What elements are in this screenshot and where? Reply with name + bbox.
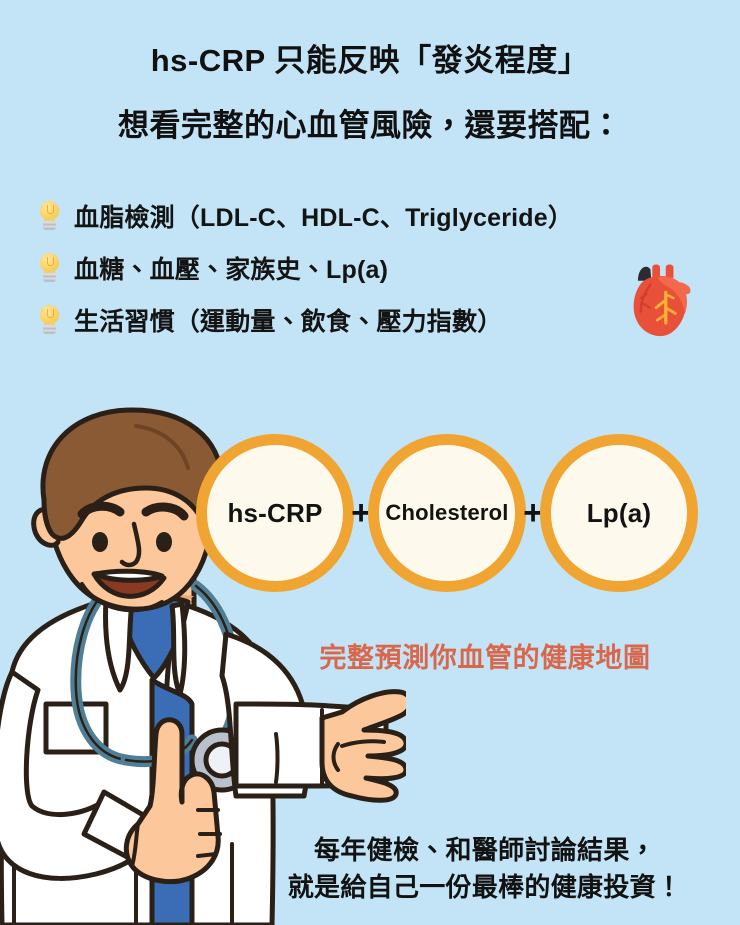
lightbulb-icon	[34, 249, 66, 287]
combo-label: hs-CRP	[227, 500, 322, 526]
combo-label: Lp(a)	[587, 500, 652, 526]
list-item: 生活習慣（運動量、飲食、壓力指數）	[34, 294, 694, 346]
combo-circle-cholesterol: Cholesterol	[368, 434, 526, 592]
tagline-text: 完整預測你血管的健康地圖	[250, 636, 720, 675]
combo-label: Cholesterol	[385, 502, 508, 524]
list-item: 血糖、血壓、家族史、Lp(a)	[34, 242, 694, 294]
list-item-label: 血糖、血壓、家族史、Lp(a)	[74, 250, 388, 286]
footer-line-2: 就是給自己一份最棒的健康投資！	[240, 869, 730, 906]
list-item: 血脂檢測（LDL-C、HDL-C、Triglyceride）	[34, 190, 694, 242]
headline-block: hs-CRP 只能反映「發炎程度」 想看完整的心血管風險，還要搭配：	[0, 42, 740, 146]
list-item-label: 血脂檢測（LDL-C、HDL-C、Triglyceride）	[74, 198, 573, 234]
combo-circle-lpa: Lp(a)	[540, 434, 698, 592]
infographic-poster: hs-CRP 只能反映「發炎程度」 想看完整的心血管風險，還要搭配： 血脂檢測（…	[0, 0, 740, 925]
biomarker-combo-row: hs-CRP + Cholesterol + Lp(a)	[196, 432, 740, 594]
footer-line-1: 每年健檢、和醫師討論結果，	[240, 832, 730, 869]
headline-primary: hs-CRP 只能反映「發炎程度」	[0, 42, 740, 81]
footer-block: 每年健檢、和醫師討論結果， 就是給自己一份最棒的健康投資！	[240, 832, 730, 906]
bullet-list: 血脂檢測（LDL-C、HDL-C、Triglyceride） 血糖、血壓、家族史…	[34, 190, 694, 346]
headline-secondary: 想看完整的心血管風險，還要搭配：	[0, 107, 740, 146]
list-item-label: 生活習慣（運動量、飲食、壓力指數）	[74, 302, 502, 338]
lightbulb-icon	[34, 301, 66, 339]
lightbulb-icon	[34, 197, 66, 235]
combo-circle-hs-crp: hs-CRP	[196, 434, 354, 592]
